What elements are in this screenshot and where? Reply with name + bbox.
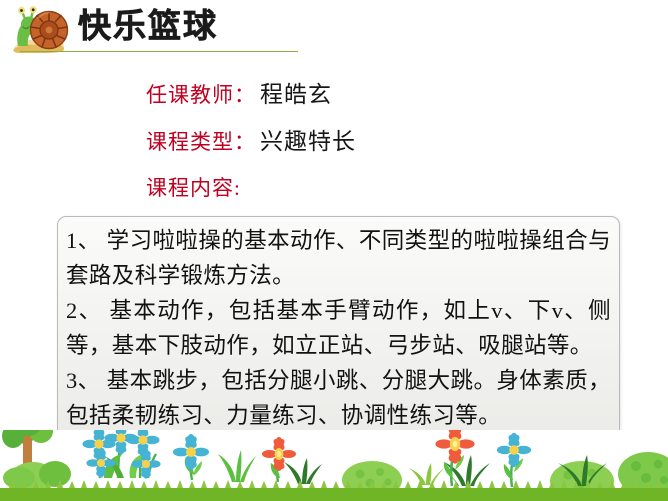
meta-row-teacher: 任课教师：程皓玄	[146, 83, 332, 106]
meta-row-course-type: 课程类型：兴趣特长	[146, 130, 356, 153]
meta-label-course-type: 课程类型：	[146, 130, 256, 154]
meta-label-teacher: 任课教师：	[146, 83, 256, 107]
snail-icon	[8, 6, 70, 56]
meta-value-course-type: 兴趣特长	[260, 129, 356, 154]
meta-row-course-content: 课程内容:	[146, 176, 245, 199]
meta-value-teacher: 程皓玄	[260, 82, 332, 107]
bottom-decoration	[0, 430, 668, 501]
course-content-box: 1、 学习啦啦操的基本动作、不同类型的啦啦操组合与套路及科学锻炼方法。 2、 基…	[57, 216, 620, 440]
slide-root: 快乐篮球 任课教师：程皓玄 课程类型：兴趣特长 课程内容: 1、 学习啦啦操的基…	[0, 0, 668, 501]
course-content-text: 1、 学习啦啦操的基本动作、不同类型的啦啦操组合与套路及科学锻炼方法。 2、 基…	[66, 223, 611, 433]
title-divider	[20, 51, 298, 52]
page-title: 快乐篮球	[78, 5, 218, 47]
meta-label-course-content: 课程内容:	[146, 176, 241, 200]
ground-strip	[0, 488, 668, 501]
slide-header: 快乐篮球	[0, 0, 668, 62]
